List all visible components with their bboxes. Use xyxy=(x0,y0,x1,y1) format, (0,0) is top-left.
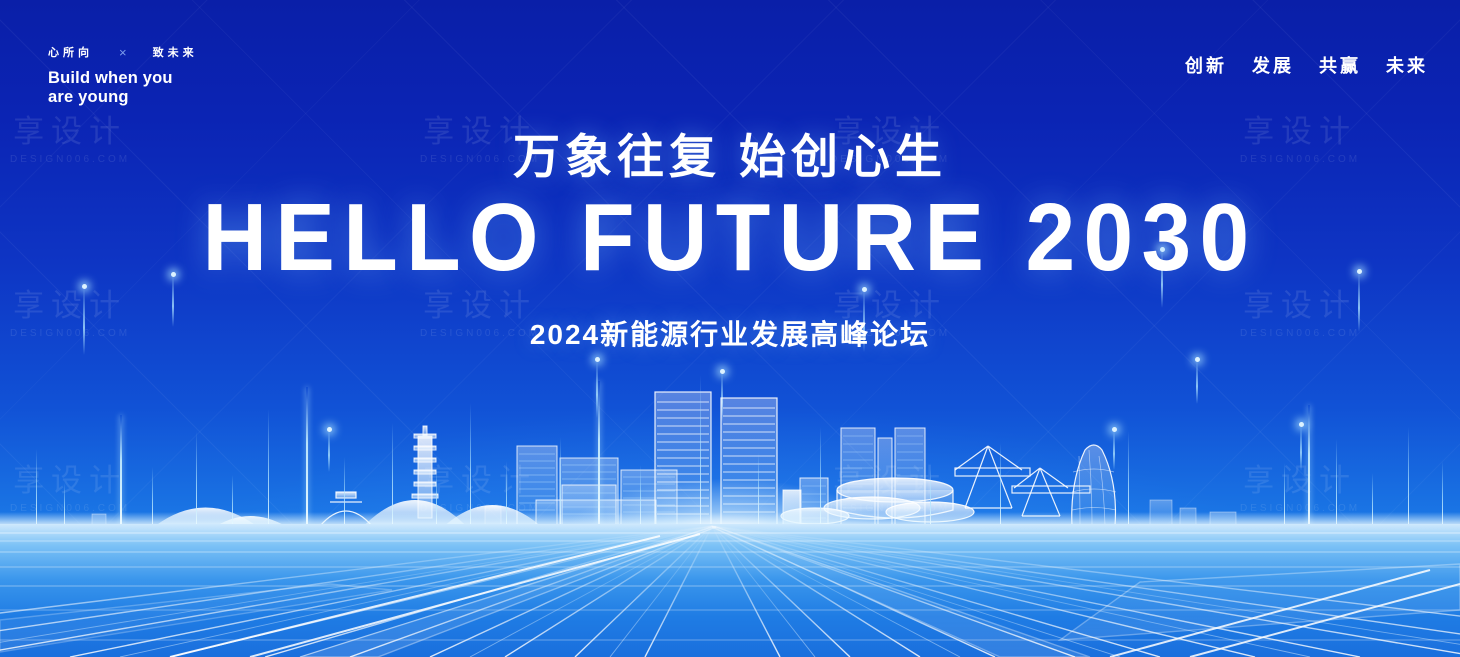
skyline-illustration xyxy=(0,330,1460,530)
brand-cn-right: 致未来 xyxy=(153,44,198,60)
cross-icon: × xyxy=(119,45,127,60)
headline-cn: 万象往复 始创心生 xyxy=(0,118,1460,187)
slogan-word: 未来 xyxy=(1386,52,1428,78)
slogan-word: 创新 xyxy=(1185,52,1227,78)
perspective-floor xyxy=(0,524,1460,657)
pavilion-bridge xyxy=(320,492,372,526)
brand-logo-cn-row: 心所向 × 致未来 xyxy=(48,44,198,60)
event-poster: 享设计DESIGN006.COM 享设计DESIGN006.COM 享设计DES… xyxy=(0,0,1460,657)
brand-logo-en: Build when you are young xyxy=(48,69,198,108)
gherkin-tower xyxy=(1072,445,1116,526)
floor-highlight-bands xyxy=(0,527,1460,657)
brand-logo: 心所向 × 致未来 Build when you are young xyxy=(48,44,198,108)
slogan-row: 创新 发展 共赢 未来 xyxy=(1185,52,1428,78)
brand-cn-left: 心所向 xyxy=(48,44,93,60)
brand-en-line1: Build when you xyxy=(48,69,198,88)
city-skyline xyxy=(0,330,1460,530)
floor-grid xyxy=(0,524,1460,657)
slogan-word: 发展 xyxy=(1252,52,1294,78)
slogan-word: 共赢 xyxy=(1319,52,1361,78)
port-cranes xyxy=(955,446,1090,516)
far-right-skyline xyxy=(1150,500,1236,526)
headline-en: HELLO FUTURE 2030 xyxy=(51,190,1409,286)
brand-en-line2: are young xyxy=(48,88,198,107)
